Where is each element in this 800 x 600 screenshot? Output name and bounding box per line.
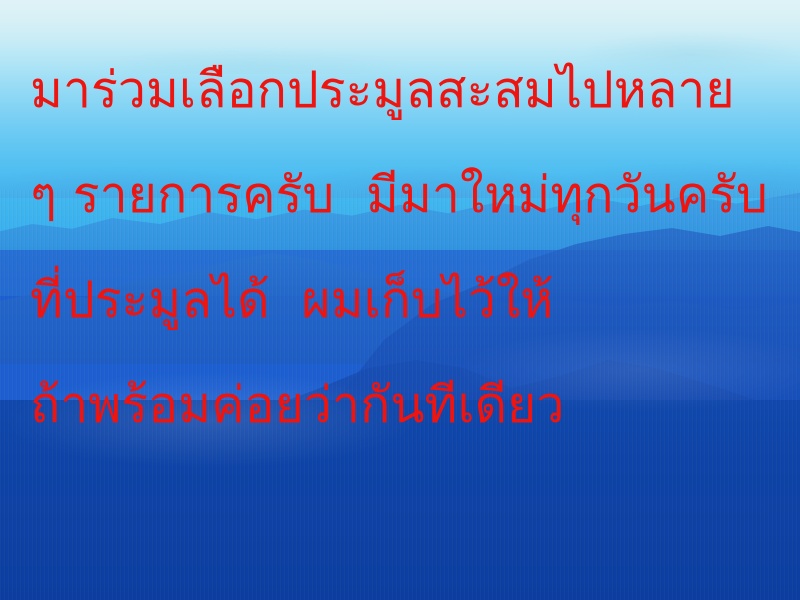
image-canvas: มาร่วมเลือกประมูลสะสมไปหลาย ๆ รายการครับ… (0, 0, 800, 600)
caption-line-1: มาร่วมเลือกประมูลสะสมไปหลาย (30, 38, 800, 143)
caption-line-4: ถ้าพร้อมค่อยว่ากันทีเดียว (30, 353, 800, 458)
thai-caption-overlay: มาร่วมเลือกประมูลสะสมไปหลาย ๆ รายการครับ… (0, 0, 800, 600)
caption-line-2: ๆ รายการครับ มีมาใหม่ทุกวันครับ (30, 143, 800, 248)
caption-line-3: ที่ประมูลได้ ผมเก็บไว้ให้ (30, 248, 800, 353)
